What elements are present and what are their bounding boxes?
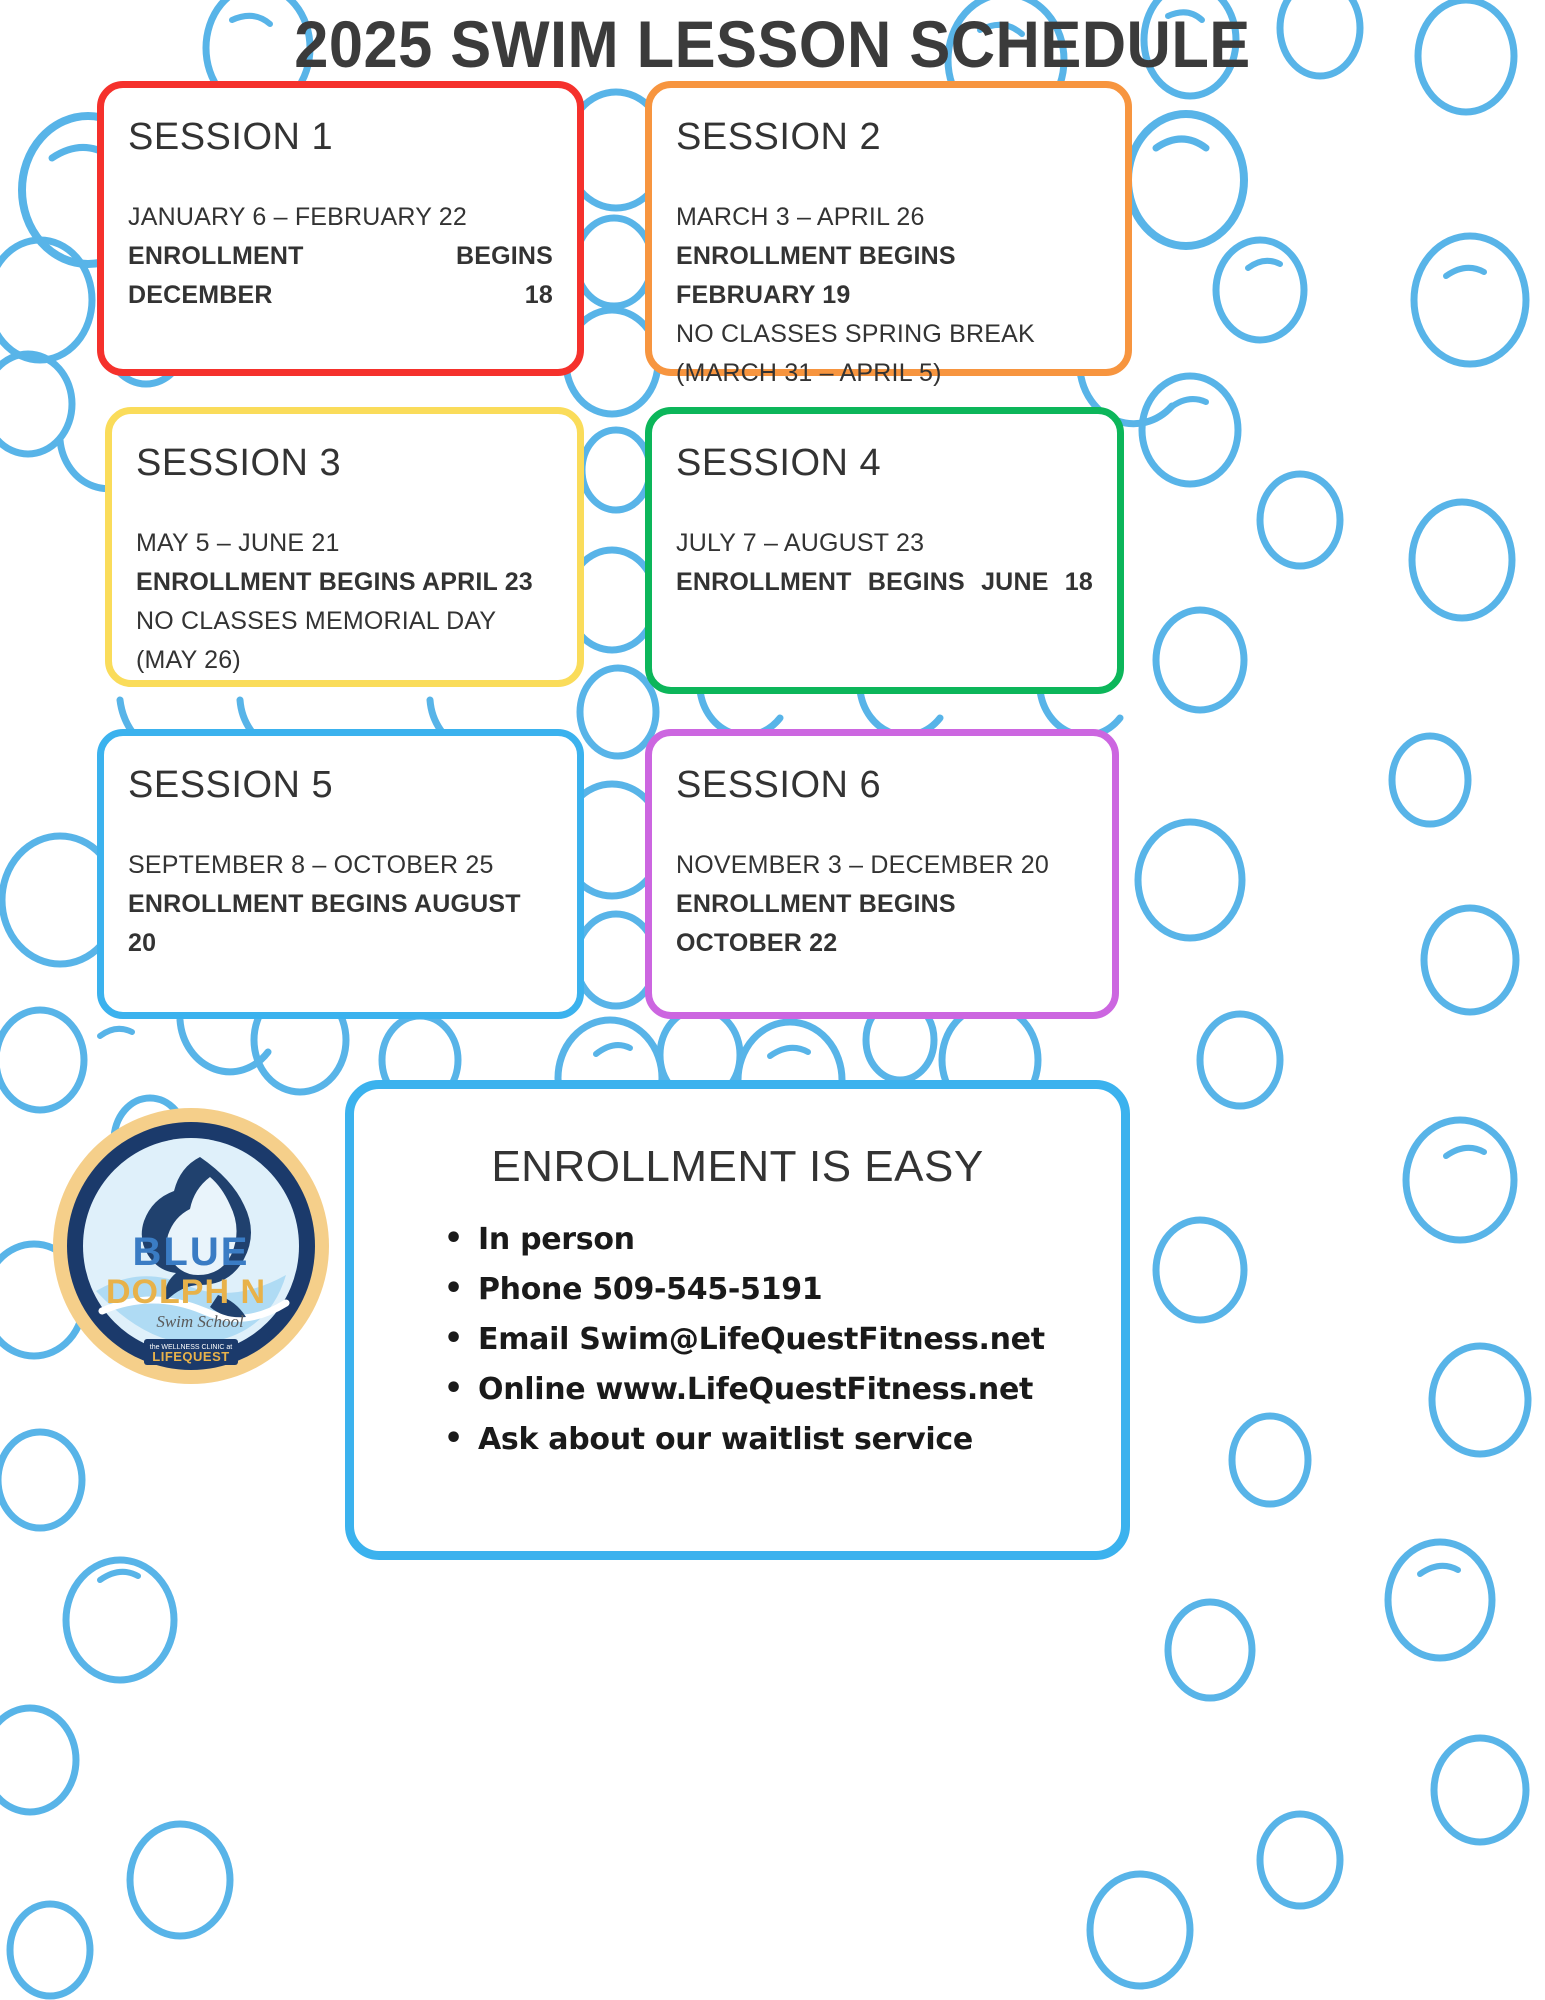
enrollment-list: In person Phone 509-545-5191 Email Swim@…: [444, 1215, 1087, 1465]
logo-name-line1: BLUE: [133, 1230, 250, 1274]
session-enrollment: ENROLLMENT BEGINS AUGUST 20: [128, 885, 553, 963]
list-item: In person: [444, 1215, 1087, 1265]
session-heading: SESSION 1: [128, 114, 553, 160]
session-card-2: SESSION 2 MARCH 3 – APRIL 26 ENROLLMENT …: [645, 81, 1132, 376]
session-card-6: SESSION 6 NOVEMBER 3 – DECEMBER 20 ENROL…: [645, 729, 1119, 1019]
session-dates: MARCH 3 – APRIL 26: [676, 198, 1101, 237]
list-item: Online www.LifeQuestFitness.net: [444, 1365, 1087, 1415]
session-heading: SESSION 5: [128, 762, 553, 808]
session-dates: SEPTEMBER 8 – OCTOBER 25: [128, 846, 553, 885]
blue-dolphin-logo: BLUE DOLPH N Swim School the WELLNESS CL…: [50, 1105, 332, 1387]
session-card-4: SESSION 4 JULY 7 – AUGUST 23 ENROLLMENT …: [645, 407, 1124, 694]
session-enrollment: ENROLLMENT BEGINS DECEMBER 18: [128, 237, 553, 315]
session-body: JANUARY 6 – FEBRUARY 22 ENROLLMENT BEGIN…: [128, 198, 553, 315]
session-dates: JANUARY 6 – FEBRUARY 22: [128, 198, 553, 237]
session-note: NO CLASSES SPRING BREAK: [676, 315, 1101, 354]
session-card-3: SESSION 3 MAY 5 – JUNE 21 ENROLLMENT BEG…: [105, 407, 584, 687]
page-title: 2025 SWIM LESSON SCHEDULE: [54, 6, 1491, 82]
session-dates: MAY 5 – JUNE 21: [136, 524, 553, 563]
list-item: Ask about our waitlist service: [444, 1415, 1087, 1465]
session-heading: SESSION 2: [676, 114, 1101, 160]
logo-partner: LIFEQUEST: [152, 1349, 229, 1364]
logo-tagline: Swim School: [156, 1312, 244, 1331]
session-heading: SESSION 3: [136, 440, 553, 486]
session-card-5: SESSION 5 SEPTEMBER 8 – OCTOBER 25 ENROL…: [97, 729, 584, 1019]
session-body: NOVEMBER 3 – DECEMBER 20 ENROLLMENT BEGI…: [676, 846, 1088, 963]
session-enrollment: ENROLLMENT BEGINS OCTOBER 22: [676, 885, 1088, 963]
session-enrollment: ENROLLMENT BEGINS APRIL 23: [136, 563, 553, 602]
enrollment-heading: ENROLLMENT IS EASY: [388, 1141, 1087, 1193]
list-item: Phone 509-545-5191: [444, 1265, 1087, 1315]
session-body: MARCH 3 – APRIL 26 ENROLLMENT BEGINS FEB…: [676, 198, 1101, 393]
enrollment-panel: ENROLLMENT IS EASY In person Phone 509-5…: [345, 1080, 1130, 1560]
list-item: Email Swim@LifeQuestFitness.net: [444, 1315, 1087, 1365]
session-note: NO CLASSES MEMORIAL DAY (MAY 26): [136, 602, 553, 680]
session-enrollment: ENROLLMENT BEGINS FEBRUARY 19: [676, 237, 1101, 315]
swim-schedule-flyer: 2025 SWIM LESSON SCHEDULE SESSION 1 JANU…: [0, 0, 1545, 2000]
session-body: SEPTEMBER 8 – OCTOBER 25 ENROLLMENT BEGI…: [128, 846, 553, 963]
session-enrollment: ENROLLMENT BEGINS JUNE 18: [676, 563, 1093, 602]
session-card-1: SESSION 1 JANUARY 6 – FEBRUARY 22 ENROLL…: [97, 81, 584, 376]
session-dates: NOVEMBER 3 – DECEMBER 20: [676, 846, 1088, 885]
session-note: (MARCH 31 – APRIL 5): [676, 354, 1101, 393]
session-dates: JULY 7 – AUGUST 23: [676, 524, 1093, 563]
logo-name-line2: DOLPH N: [106, 1273, 266, 1311]
session-heading: SESSION 6: [676, 762, 1088, 808]
session-heading: SESSION 4: [676, 440, 1093, 486]
session-body: MAY 5 – JUNE 21 ENROLLMENT BEGINS APRIL …: [136, 524, 553, 680]
session-body: JULY 7 – AUGUST 23 ENROLLMENT BEGINS JUN…: [676, 524, 1093, 602]
